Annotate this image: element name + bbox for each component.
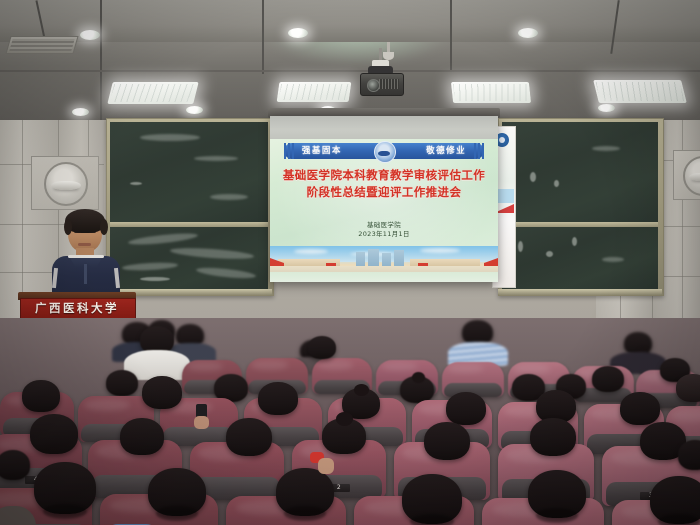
- audience-head-foreground: [276, 468, 334, 516]
- wall-speaker-icon: [44, 162, 88, 206]
- audience-seating: 4 2 3 4: [0, 318, 700, 525]
- ceiling-projector: [358, 48, 404, 96]
- audience-head: [226, 418, 272, 456]
- slide-subtitle-date: 2023年11月1日: [270, 230, 498, 239]
- audience-head: [0, 450, 30, 480]
- audience-head: [258, 382, 298, 415]
- slide-subtitle: 基础医学院 2023年11月1日: [270, 221, 498, 239]
- lecture-hall-photo: 强基固本 敬德修业 基础医学院本科教育教学审核评估工作 阶段性总结暨迎评工作推进…: [0, 0, 700, 525]
- ceiling-downlight: [288, 28, 308, 38]
- slide-title-line-2: 阶段性总结暨迎评工作推进会: [274, 184, 494, 201]
- audience-hand: [318, 458, 334, 474]
- audience-head-foreground: [34, 462, 96, 514]
- podium-name-text: 广西医科大学: [18, 302, 136, 315]
- audience-head: [530, 418, 576, 456]
- ceiling-panel-light: [107, 82, 198, 104]
- ceiling-downlight: [80, 30, 100, 40]
- audience-head: [678, 440, 700, 470]
- audience-head: [30, 414, 78, 454]
- ceiling-seam: [100, 0, 102, 120]
- audience-head-foreground: [650, 476, 700, 524]
- university-seal-icon: [374, 141, 396, 163]
- audience-hair-bun: [354, 384, 369, 396]
- audience-head: [424, 422, 470, 460]
- ceiling-seam: [262, 0, 264, 74]
- audience-head: [676, 374, 700, 402]
- audience-head: [106, 370, 138, 396]
- ceiling-panel-light: [593, 80, 687, 103]
- ceiling-downlight: [72, 108, 89, 116]
- screen-blank-band: [270, 116, 498, 139]
- slide-campus-photo: [270, 246, 498, 272]
- auditorium-seat: [442, 362, 504, 397]
- ceiling-soffit: [0, 0, 700, 42]
- audience-hand: [194, 416, 209, 429]
- audience-head-foreground: [148, 468, 206, 516]
- ceiling-downlight: [598, 104, 615, 112]
- audience-hair-bun: [412, 372, 425, 383]
- ceiling-panel-light: [277, 82, 352, 102]
- projection-screen: 强基固本 敬德修业 基础医学院本科教育教学审核评估工作 阶段性总结暨迎评工作推进…: [270, 116, 498, 282]
- slide-title-line-1: 基础医学院本科教育教学审核评估工作: [274, 167, 494, 184]
- presenter: [52, 212, 120, 304]
- audience-head-foreground: [528, 470, 586, 518]
- audience-head: [142, 376, 182, 409]
- blackboard-left-lower: [110, 227, 268, 289]
- audience-head: [120, 418, 164, 455]
- ceiling-seam: [450, 0, 452, 70]
- slide-title: 基础医学院本科教育教学审核评估工作 阶段性总结暨迎评工作推进会: [274, 167, 494, 201]
- audience-head: [22, 380, 60, 412]
- blackboard-right-lower: [502, 227, 658, 289]
- blackboard-right-upper: [502, 122, 658, 222]
- audience-head: [308, 336, 336, 359]
- ac-vent-grille: [5, 36, 78, 54]
- ribbon-text-left: 强基固本: [302, 144, 342, 158]
- slide-subtitle-org: 基础医学院: [270, 221, 498, 230]
- chalk-tray: [498, 289, 662, 295]
- ceiling-panel-light: [451, 82, 531, 103]
- blackboard-left-upper: [110, 122, 268, 222]
- presentation-slide: 强基固本 敬德修业 基础医学院本科教育教学审核评估工作 阶段性总结暨迎评工作推进…: [270, 139, 498, 282]
- ribbon-text-right: 敬德修业: [426, 144, 466, 158]
- ceiling-downlight: [518, 28, 538, 38]
- ceiling: [0, 0, 700, 120]
- audience-head: [592, 366, 624, 392]
- audience-head-foreground: [402, 474, 462, 524]
- ceiling-downlight: [186, 106, 203, 114]
- ceiling-seam: [0, 70, 700, 72]
- audience-head: [620, 392, 660, 425]
- audience-head: [446, 392, 486, 425]
- audience-hair-bun: [336, 412, 353, 426]
